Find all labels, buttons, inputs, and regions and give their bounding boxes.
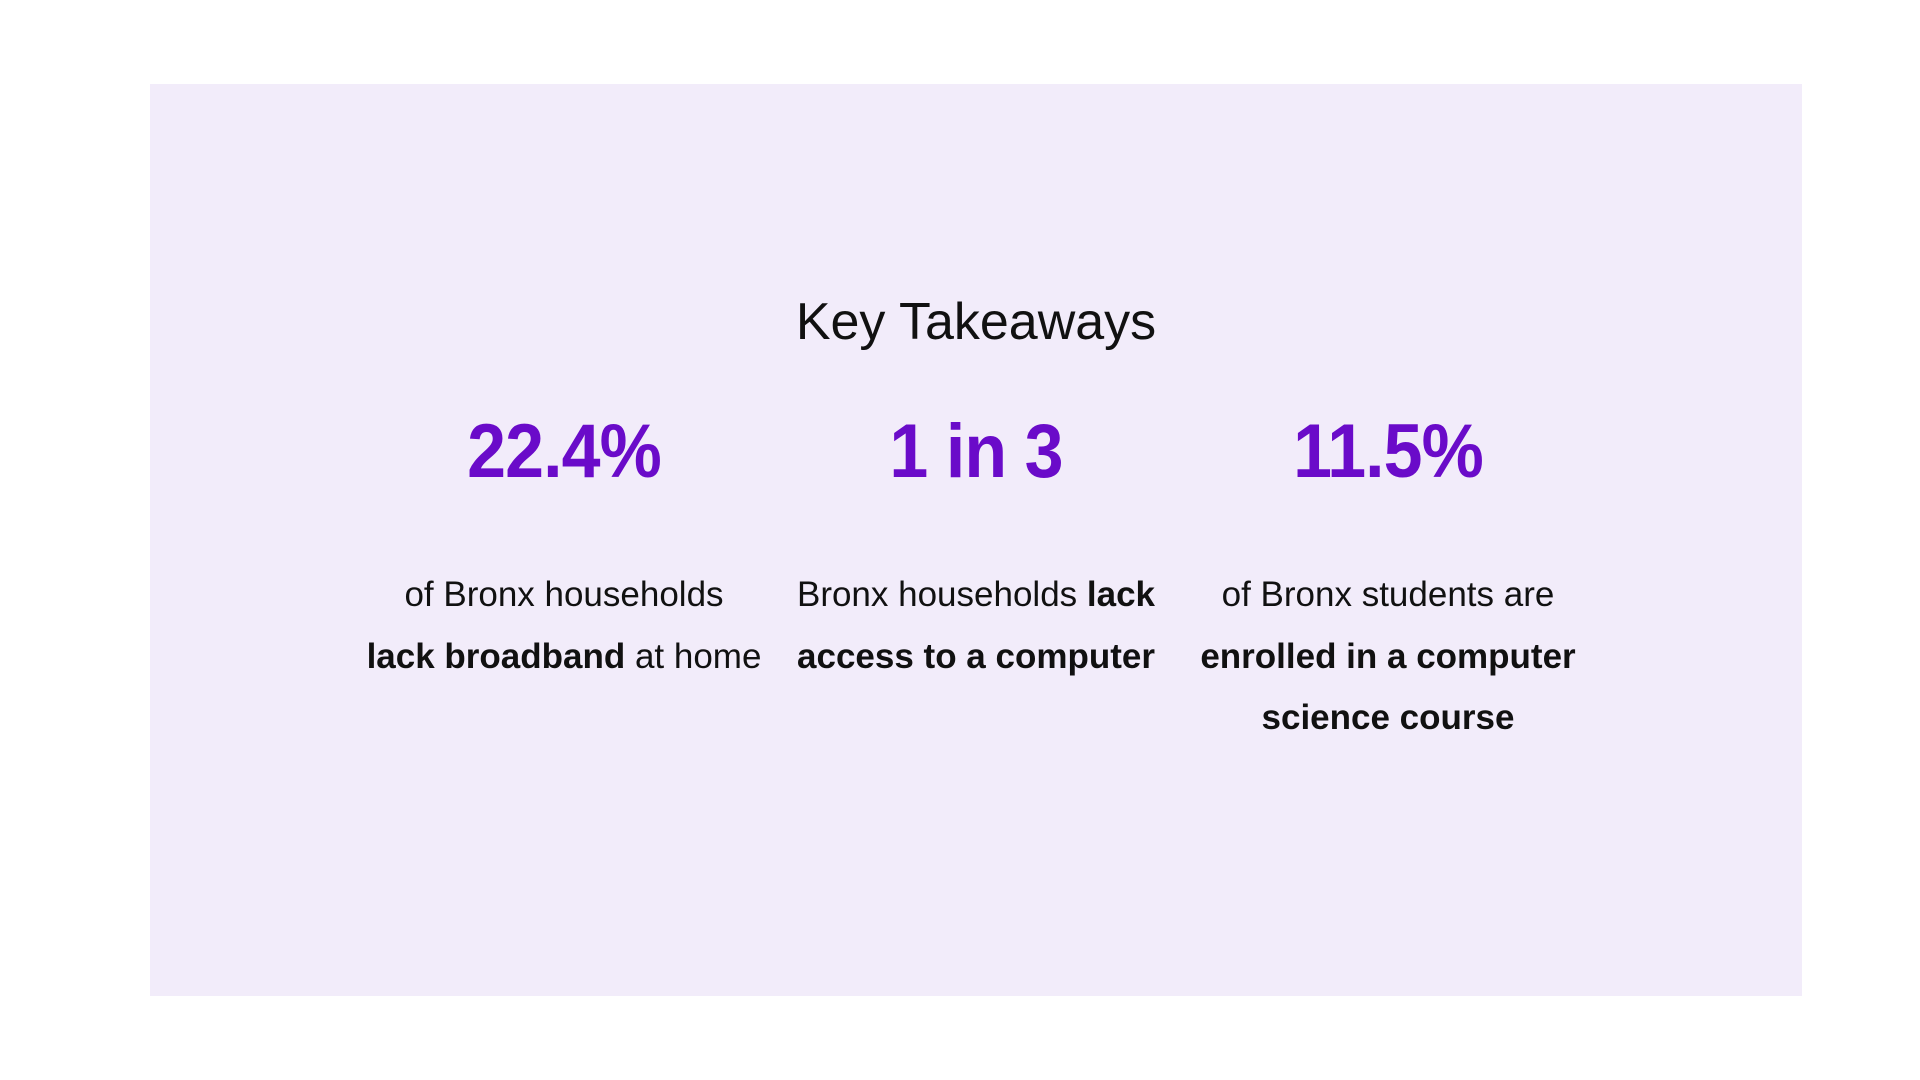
stat-card-2: 11.5% of Bronx students are enrolled in …	[1182, 414, 1594, 749]
infographic-canvas: Key Takeaways 22.4% of Bronx households …	[0, 0, 1920, 1080]
caption-emphasis: lack broadband	[367, 637, 626, 676]
caption-text: of Bronx households	[404, 575, 723, 614]
page-title: Key Takeaways	[150, 294, 1802, 351]
stat-card-1: 1 in 3 Bronx households lack access to a…	[770, 414, 1182, 687]
stat-caption: Bronx households lack access to a comput…	[778, 564, 1174, 687]
caption-text: Bronx households	[797, 575, 1087, 614]
stat-value: 1 in 3	[794, 414, 1158, 490]
caption-text: of Bronx students are	[1222, 575, 1555, 614]
key-takeaways-panel: Key Takeaways 22.4% of Bronx households …	[150, 84, 1802, 996]
stat-card-0: 22.4% of Bronx households lack broadband…	[358, 414, 770, 687]
stats-row: 22.4% of Bronx households lack broadband…	[150, 414, 1802, 749]
stat-caption: of Bronx students are enrolled in a comp…	[1190, 564, 1586, 749]
caption-emphasis: enrolled in a computer science course	[1200, 637, 1575, 738]
stat-caption: of Bronx households lack broadband at ho…	[366, 564, 762, 687]
stat-value: 11.5%	[1206, 414, 1570, 490]
caption-text: at home	[625, 637, 761, 676]
stat-value: 22.4%	[382, 414, 746, 490]
